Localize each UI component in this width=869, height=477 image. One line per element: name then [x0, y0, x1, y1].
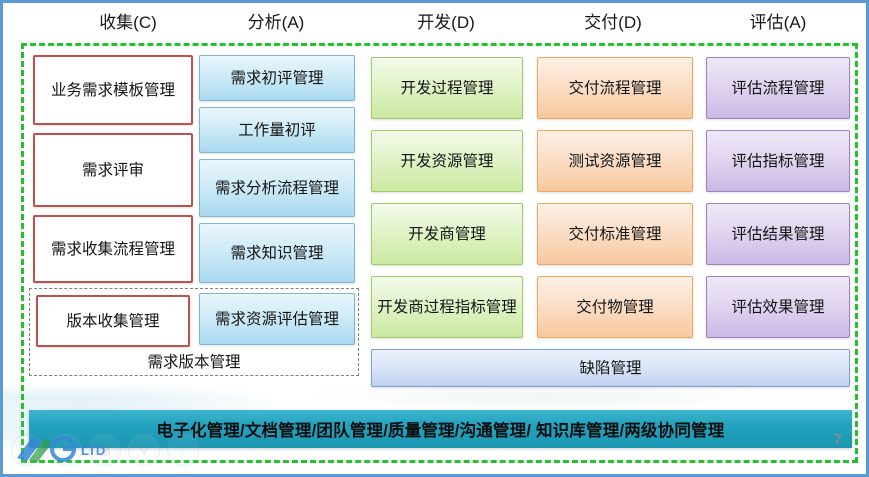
card-collect-2-label: 需求评审 [82, 161, 144, 180]
card-defect-management-label: 缺陷管理 [579, 359, 641, 378]
column-header-analyze-label: 分析(A) [248, 13, 305, 32]
card-deliver-3[interactable]: 交付标准管理 [537, 203, 693, 265]
card-evaluate-4[interactable]: 评估效果管理 [706, 276, 850, 338]
card-collect-1-label: 业务需求模板管理 [51, 81, 175, 100]
card-deliver-1-label: 交付流程管理 [568, 79, 661, 98]
card-evaluate-3[interactable]: 评估结果管理 [706, 203, 850, 265]
column-header-evaluate-label: 评估(A) [750, 13, 807, 32]
more-icon[interactable]: ⋯ [167, 434, 199, 466]
column-header-deliver-label: 交付(D) [584, 13, 642, 32]
card-collect-3[interactable]: 需求收集流程管理 [33, 215, 193, 283]
card-analyze-1[interactable]: 需求初评管理 [199, 55, 355, 101]
column-header-develop-label: 开发(D) [417, 13, 475, 32]
card-develop-2-label: 开发资源管理 [400, 152, 493, 171]
requirement-version-group-label: 需求版本管理 [29, 348, 359, 374]
card-evaluate-2-label: 评估指标管理 [731, 152, 824, 171]
card-develop-4[interactable]: 开发商过程指标管理 [371, 276, 523, 338]
card-deliver-4-label: 交付物管理 [576, 298, 654, 317]
card-develop-1[interactable]: 开发过程管理 [371, 57, 523, 119]
requirement-version-group-text: 需求版本管理 [147, 350, 240, 372]
card-analyze-4[interactable]: 需求知识管理 [199, 223, 355, 283]
card-develop-2[interactable]: 开发资源管理 [371, 130, 523, 192]
column-header-collect: 收集(C) [63, 11, 193, 35]
slide-canvas: 收集(C) 分析(A) 开发(D) 交付(D) 评估(A) 业务需求模板管理 需… [0, 0, 869, 477]
card-deliver-1[interactable]: 交付流程管理 [537, 57, 693, 119]
card-analyze-3[interactable]: 需求分析流程管理 [199, 159, 355, 217]
presentation-icon[interactable]: ▦ [89, 434, 121, 466]
column-header-collect-label: 收集(C) [99, 13, 157, 32]
card-deliver-4[interactable]: 交付物管理 [537, 276, 693, 338]
card-collect-3-label: 需求收集流程管理 [51, 240, 175, 259]
card-analyze-4-label: 需求知识管理 [230, 244, 323, 263]
ghost-toolbar: ‹ ✎ ▦ ⚲ ⋯ [11, 432, 261, 468]
card-evaluate-2[interactable]: 评估指标管理 [706, 130, 850, 192]
card-develop-4-label: 开发商过程指标管理 [377, 298, 517, 317]
card-analyze-2-label: 工作量初评 [238, 121, 316, 140]
card-defect-management[interactable]: 缺陷管理 [371, 349, 850, 387]
card-develop-3-label: 开发商管理 [408, 225, 486, 244]
page-number-value: 7 [834, 431, 842, 448]
search-icon[interactable]: ⚲ [128, 434, 160, 466]
pen-icon[interactable]: ✎ [50, 434, 82, 466]
card-analyze-1-label: 需求初评管理 [230, 69, 323, 88]
card-evaluate-3-label: 评估结果管理 [731, 225, 824, 244]
card-evaluate-1-label: 评估流程管理 [731, 79, 824, 98]
column-header-develop: 开发(D) [381, 11, 511, 35]
card-analyze-3-label: 需求分析流程管理 [215, 179, 339, 198]
column-header-evaluate: 评估(A) [713, 11, 843, 35]
card-evaluate-1[interactable]: 评估流程管理 [706, 57, 850, 119]
card-develop-1-label: 开发过程管理 [400, 79, 493, 98]
card-collect-1[interactable]: 业务需求模板管理 [33, 55, 193, 125]
page-number: 7 [834, 431, 842, 448]
column-header-analyze: 分析(A) [211, 11, 341, 35]
back-icon[interactable]: ‹ [11, 434, 43, 466]
card-deliver-3-label: 交付标准管理 [568, 225, 661, 244]
card-deliver-2-label: 测试资源管理 [568, 152, 661, 171]
card-collect-2[interactable]: 需求评审 [33, 133, 193, 207]
card-develop-3[interactable]: 开发商管理 [371, 203, 523, 265]
card-evaluate-4-label: 评估效果管理 [731, 298, 824, 317]
card-deliver-2[interactable]: 测试资源管理 [537, 130, 693, 192]
column-header-deliver: 交付(D) [548, 11, 678, 35]
card-analyze-2[interactable]: 工作量初评 [199, 107, 355, 153]
